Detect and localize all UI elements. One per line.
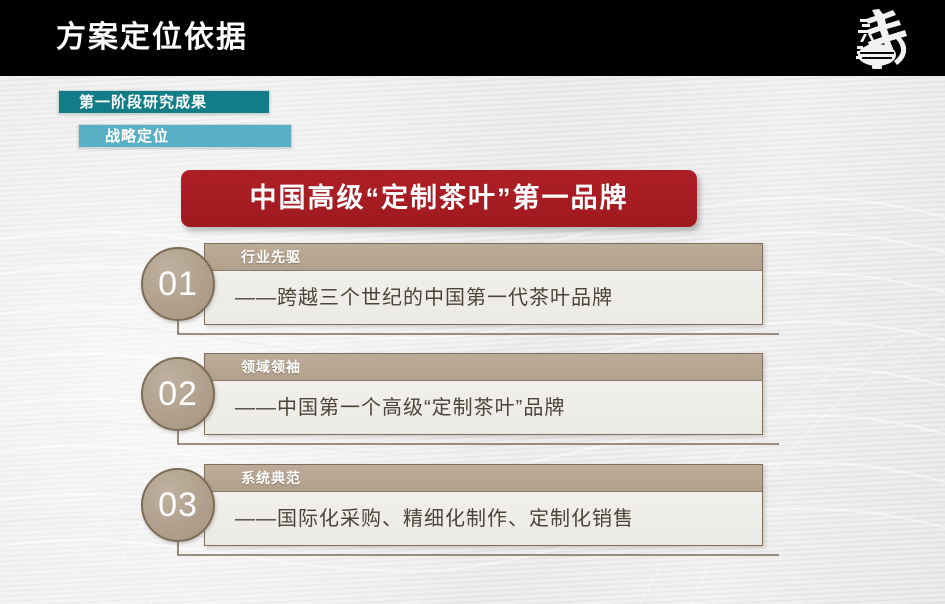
item-body-band: ——跨越三个世纪的中国第一代茶叶品牌: [205, 271, 762, 325]
item-body-text: ——国际化采购、精细化制作、定制化销售: [235, 509, 634, 529]
item-body-text: ——跨越三个世纪的中国第一代茶叶品牌: [235, 288, 613, 308]
item-number-text: 02: [158, 377, 198, 411]
item-number-text: 03: [158, 488, 198, 522]
item-card: 领域领袖 ——中国第一个高级“定制茶叶”品牌: [204, 353, 763, 435]
list-item: 系统典范 ——国际化采购、精细化制作、定制化销售 03: [141, 464, 763, 546]
item-body-text: ——中国第一个高级“定制茶叶”品牌: [235, 398, 565, 418]
brand-logo: [827, 3, 923, 73]
item-number-badge: 02: [141, 357, 215, 431]
item-heading-text: 领域领袖: [241, 360, 301, 374]
list-item: 行业先驱 ——跨越三个世纪的中国第一代茶叶品牌 01: [141, 243, 763, 325]
item-heading-text: 系统典范: [241, 471, 301, 485]
item-heading-band: 系统典范: [205, 465, 762, 492]
tab-strategic-positioning-label: 战略定位: [105, 129, 169, 144]
item-card: 系统典范 ——国际化采购、精细化制作、定制化销售: [204, 464, 763, 546]
item-number-badge: 01: [141, 247, 215, 321]
item-body-band: ——中国第一个高级“定制茶叶”品牌: [205, 381, 762, 435]
tab-strategic-positioning[interactable]: 战略定位: [78, 124, 292, 148]
headline-banner-text: 中国高级“定制茶叶”第一品牌: [250, 185, 629, 212]
item-heading-band: 领域领袖: [205, 354, 762, 381]
item-number-text: 01: [158, 267, 198, 301]
tab-phase-one-results-label: 第一阶段研究成果: [79, 95, 207, 110]
list-item: 领域领袖 ——中国第一个高级“定制茶叶”品牌 02: [141, 353, 763, 435]
item-heading-text: 行业先驱: [241, 250, 301, 264]
headline-banner: 中国高级“定制茶叶”第一品牌: [181, 170, 697, 227]
item-body-band: ——国际化采购、精细化制作、定制化销售: [205, 492, 762, 546]
slide-canvas: 方案定位依据 第一阶段研究成果 战略定位 中国: [0, 0, 945, 604]
tab-phase-one-results[interactable]: 第一阶段研究成果: [58, 90, 270, 114]
page-title: 方案定位依据: [56, 16, 248, 60]
item-heading-band: 行业先驱: [205, 244, 762, 271]
item-card: 行业先驱 ——跨越三个世纪的中国第一代茶叶品牌: [204, 243, 763, 325]
item-number-badge: 03: [141, 468, 215, 542]
